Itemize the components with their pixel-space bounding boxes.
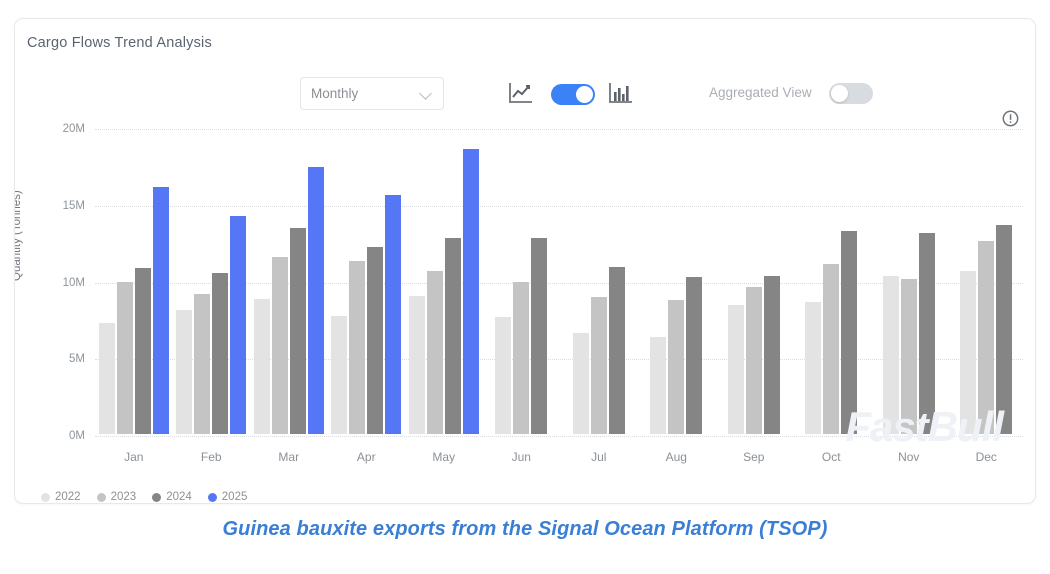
x-tick-label: Dec [976, 450, 997, 464]
x-tick-label: Oct [822, 450, 841, 464]
chart-bar[interactable] [308, 167, 324, 434]
legend-color-dot [152, 493, 161, 502]
x-tick-label: May [432, 450, 455, 464]
chart-legend: 2022202320242025 [41, 491, 247, 503]
y-tick-label: 10M [39, 277, 85, 289]
y-tick-label: 15M [39, 200, 85, 212]
chart-bar[interactable] [764, 276, 780, 434]
chart-bar[interactable] [668, 300, 684, 434]
chart-bar[interactable] [823, 264, 839, 434]
legend-color-dot [41, 493, 50, 502]
legend-item[interactable]: 2022 [41, 491, 81, 503]
chart-bar[interactable] [728, 305, 744, 434]
bars-layer [95, 19, 1023, 503]
x-tick-label: Feb [201, 450, 222, 464]
chart-bar[interactable] [746, 287, 762, 434]
legend-label: 2023 [111, 491, 137, 503]
chart-bar[interactable] [445, 238, 461, 434]
legend-color-dot [97, 493, 106, 502]
y-tick-label: 0M [39, 430, 85, 442]
chart-plot-area: Quantity (Tonnes) 0M5M10M15M20M JanFebMa… [15, 19, 1035, 503]
legend-color-dot [208, 493, 217, 502]
cargo-flows-card: Cargo Flows Trend Analysis Monthly [14, 18, 1036, 504]
chart-bar[interactable] [135, 268, 151, 434]
chart-bar[interactable] [463, 149, 479, 435]
y-tick-label: 5M [39, 353, 85, 365]
chart-bar[interactable] [495, 317, 511, 434]
chart-bar[interactable] [841, 231, 857, 434]
figure-caption: Guinea bauxite exports from the Signal O… [0, 518, 1050, 541]
chart-bar[interactable] [573, 333, 589, 434]
x-tick-label: Nov [898, 450, 919, 464]
legend-item[interactable]: 2023 [97, 491, 137, 503]
chart-bar[interactable] [686, 277, 702, 434]
chart-bar[interactable] [272, 257, 288, 434]
x-tick-label: Jun [512, 450, 531, 464]
legend-label: 2025 [222, 491, 248, 503]
chart-bar[interactable] [650, 337, 666, 434]
chart-bar[interactable] [331, 316, 347, 434]
chart-bar[interactable] [919, 233, 935, 434]
x-tick-label: Apr [357, 450, 376, 464]
chart-bar[interactable] [996, 225, 1012, 434]
chart-bar[interactable] [609, 267, 625, 434]
chart-bar[interactable] [194, 294, 210, 434]
chart-bar[interactable] [409, 296, 425, 434]
screenshot-root: Cargo Flows Trend Analysis Monthly [0, 0, 1050, 574]
legend-item[interactable]: 2024 [152, 491, 192, 503]
x-tick-label: Mar [278, 450, 299, 464]
legend-label: 2022 [55, 491, 81, 503]
chart-bar[interactable] [805, 302, 821, 434]
chart-bar[interactable] [212, 273, 228, 434]
y-axis-label: Quantity (Tonnes) [14, 190, 23, 281]
chart-bar[interactable] [513, 282, 529, 434]
x-tick-label: Sep [743, 450, 764, 464]
chart-bar[interactable] [591, 297, 607, 434]
chart-bar[interactable] [176, 310, 192, 434]
legend-item[interactable]: 2025 [208, 491, 248, 503]
chart-bar[interactable] [99, 323, 115, 434]
chart-bar[interactable] [978, 241, 994, 434]
x-tick-label: Jul [591, 450, 606, 464]
chart-bar[interactable] [531, 238, 547, 434]
chart-bar[interactable] [230, 216, 246, 434]
chart-bar[interactable] [153, 187, 169, 434]
chart-bar[interactable] [290, 228, 306, 434]
chart-bar[interactable] [883, 276, 899, 434]
chart-bar[interactable] [117, 282, 133, 434]
chart-bar[interactable] [901, 279, 917, 434]
legend-label: 2024 [166, 491, 192, 503]
x-tick-label: Aug [666, 450, 687, 464]
chart-bar[interactable] [349, 261, 365, 434]
chart-bar[interactable] [427, 271, 443, 434]
chart-bar[interactable] [385, 195, 401, 434]
chart-bar[interactable] [367, 247, 383, 434]
chart-bar[interactable] [254, 299, 270, 434]
chart-bar[interactable] [960, 271, 976, 434]
y-tick-label: 20M [39, 123, 85, 135]
x-tick-label: Jan [124, 450, 143, 464]
